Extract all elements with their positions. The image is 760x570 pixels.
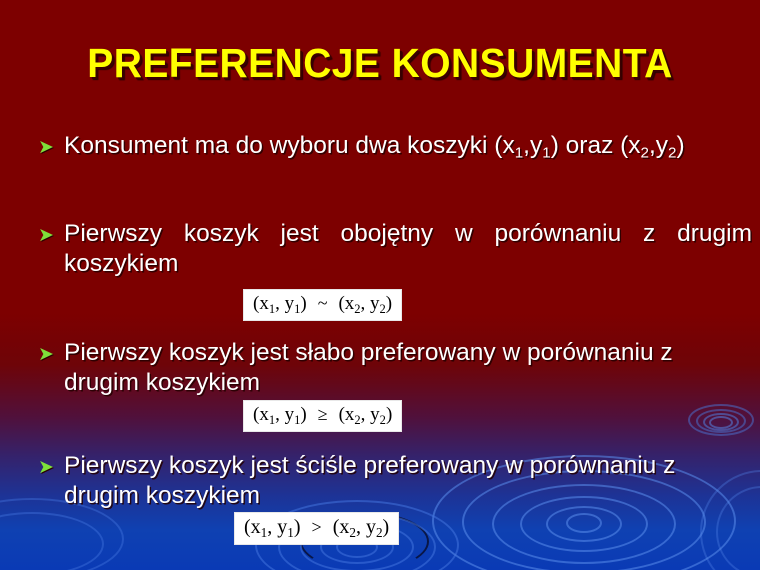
- slide-title: PREFERENCJE KONSUMENTA: [19, 40, 741, 87]
- bullet-arrow-icon: ➤: [38, 340, 64, 370]
- bullet-item-1: ➤ Konsument ma do wyboru dwa koszyki (x1…: [38, 131, 748, 168]
- bullet-1-part-c: ) oraz (x: [551, 132, 641, 159]
- bullet-item-4: ➤ Pierwszy koszyk jest ściśle preferowan…: [38, 451, 752, 511]
- formula-3-left-mid: , y: [267, 516, 287, 538]
- bullet-1-part-d: ,y: [649, 132, 668, 159]
- ripple-ring: [696, 409, 746, 433]
- formula-3-left-open: (x: [244, 516, 261, 538]
- formula-2-right-close: ): [386, 404, 392, 425]
- formula-3-right-open: (x: [333, 516, 350, 538]
- formula-3-right-sub1: 2: [349, 525, 356, 540]
- bullet-text-1: Konsument ma do wyboru dwa koszyki (x1,y…: [64, 131, 748, 168]
- bullet-item-3: ➤ Pierwszy koszyk jest słabo preferowany…: [38, 338, 752, 398]
- bullet-arrow-icon: ➤: [38, 221, 64, 251]
- formula-3-right-sub2: 2: [376, 525, 383, 540]
- bullet-1-sub-a: 1: [515, 144, 523, 161]
- formula-indifference: (x1, y1)~(x2, y2): [243, 289, 402, 321]
- formula-1-operator: ~: [307, 294, 339, 312]
- bullet-arrow-icon: ➤: [38, 133, 64, 163]
- ripple-ring: [688, 404, 754, 436]
- formula-1-right-open: (x: [338, 293, 354, 314]
- formula-3-right-close: ): [383, 516, 390, 538]
- bullet-text-4: Pierwszy koszyk jest ściśle preferowany …: [64, 451, 752, 511]
- presentation-slide: PREFERENCJE KONSUMENTA ➤ Konsument ma do…: [0, 0, 760, 570]
- formula-1-right-close: ): [386, 293, 392, 314]
- formula-2-left-open: (x: [253, 404, 269, 425]
- bullet-text-2: Pierwszy koszyk jest obojętny w porównan…: [64, 219, 752, 279]
- formula-2-left-mid: , y: [275, 404, 294, 425]
- bullet-1-part-b: ,y: [523, 132, 542, 159]
- ripple-ring: [703, 413, 739, 431]
- bullet-arrow-icon: ➤: [38, 453, 64, 483]
- bullet-text-3: Pierwszy koszyk jest słabo preferowany w…: [64, 338, 752, 398]
- formula-3-left-close: ): [294, 516, 301, 538]
- formula-2-operator: ≥: [307, 405, 339, 423]
- formula-1-right-mid: , y: [361, 293, 380, 314]
- formula-strict-preference: (x1, y1)>(x2, y2): [234, 512, 399, 545]
- ripple-ring: [546, 506, 622, 542]
- ripple-ring: [0, 512, 104, 570]
- bullet-1-part-e: ): [677, 132, 685, 159]
- formula-1-left-open: (x: [253, 293, 269, 314]
- formula-1-left-mid: , y: [275, 293, 294, 314]
- ripple-ring: [566, 513, 602, 533]
- formula-weak-preference: (x1, y1)≥(x2, y2): [243, 400, 402, 432]
- bullet-1-part-a: Konsument ma do wyboru dwa koszyki (x: [64, 132, 515, 159]
- bullet-1-sub-c: 2: [641, 144, 649, 161]
- ripple-ring: [709, 416, 733, 429]
- formula-3-operator: >: [301, 518, 333, 536]
- formula-2-right-open: (x: [339, 404, 355, 425]
- formula-3-right-mid: , y: [356, 516, 376, 538]
- bullet-1-sub-b: 1: [542, 144, 550, 161]
- formula-3-left-sub2: 1: [287, 525, 294, 540]
- formula-2-right-mid: , y: [361, 404, 380, 425]
- bullet-1-sub-d: 2: [668, 144, 676, 161]
- bullet-item-2: ➤ Pierwszy koszyk jest obojętny w porówn…: [38, 219, 752, 279]
